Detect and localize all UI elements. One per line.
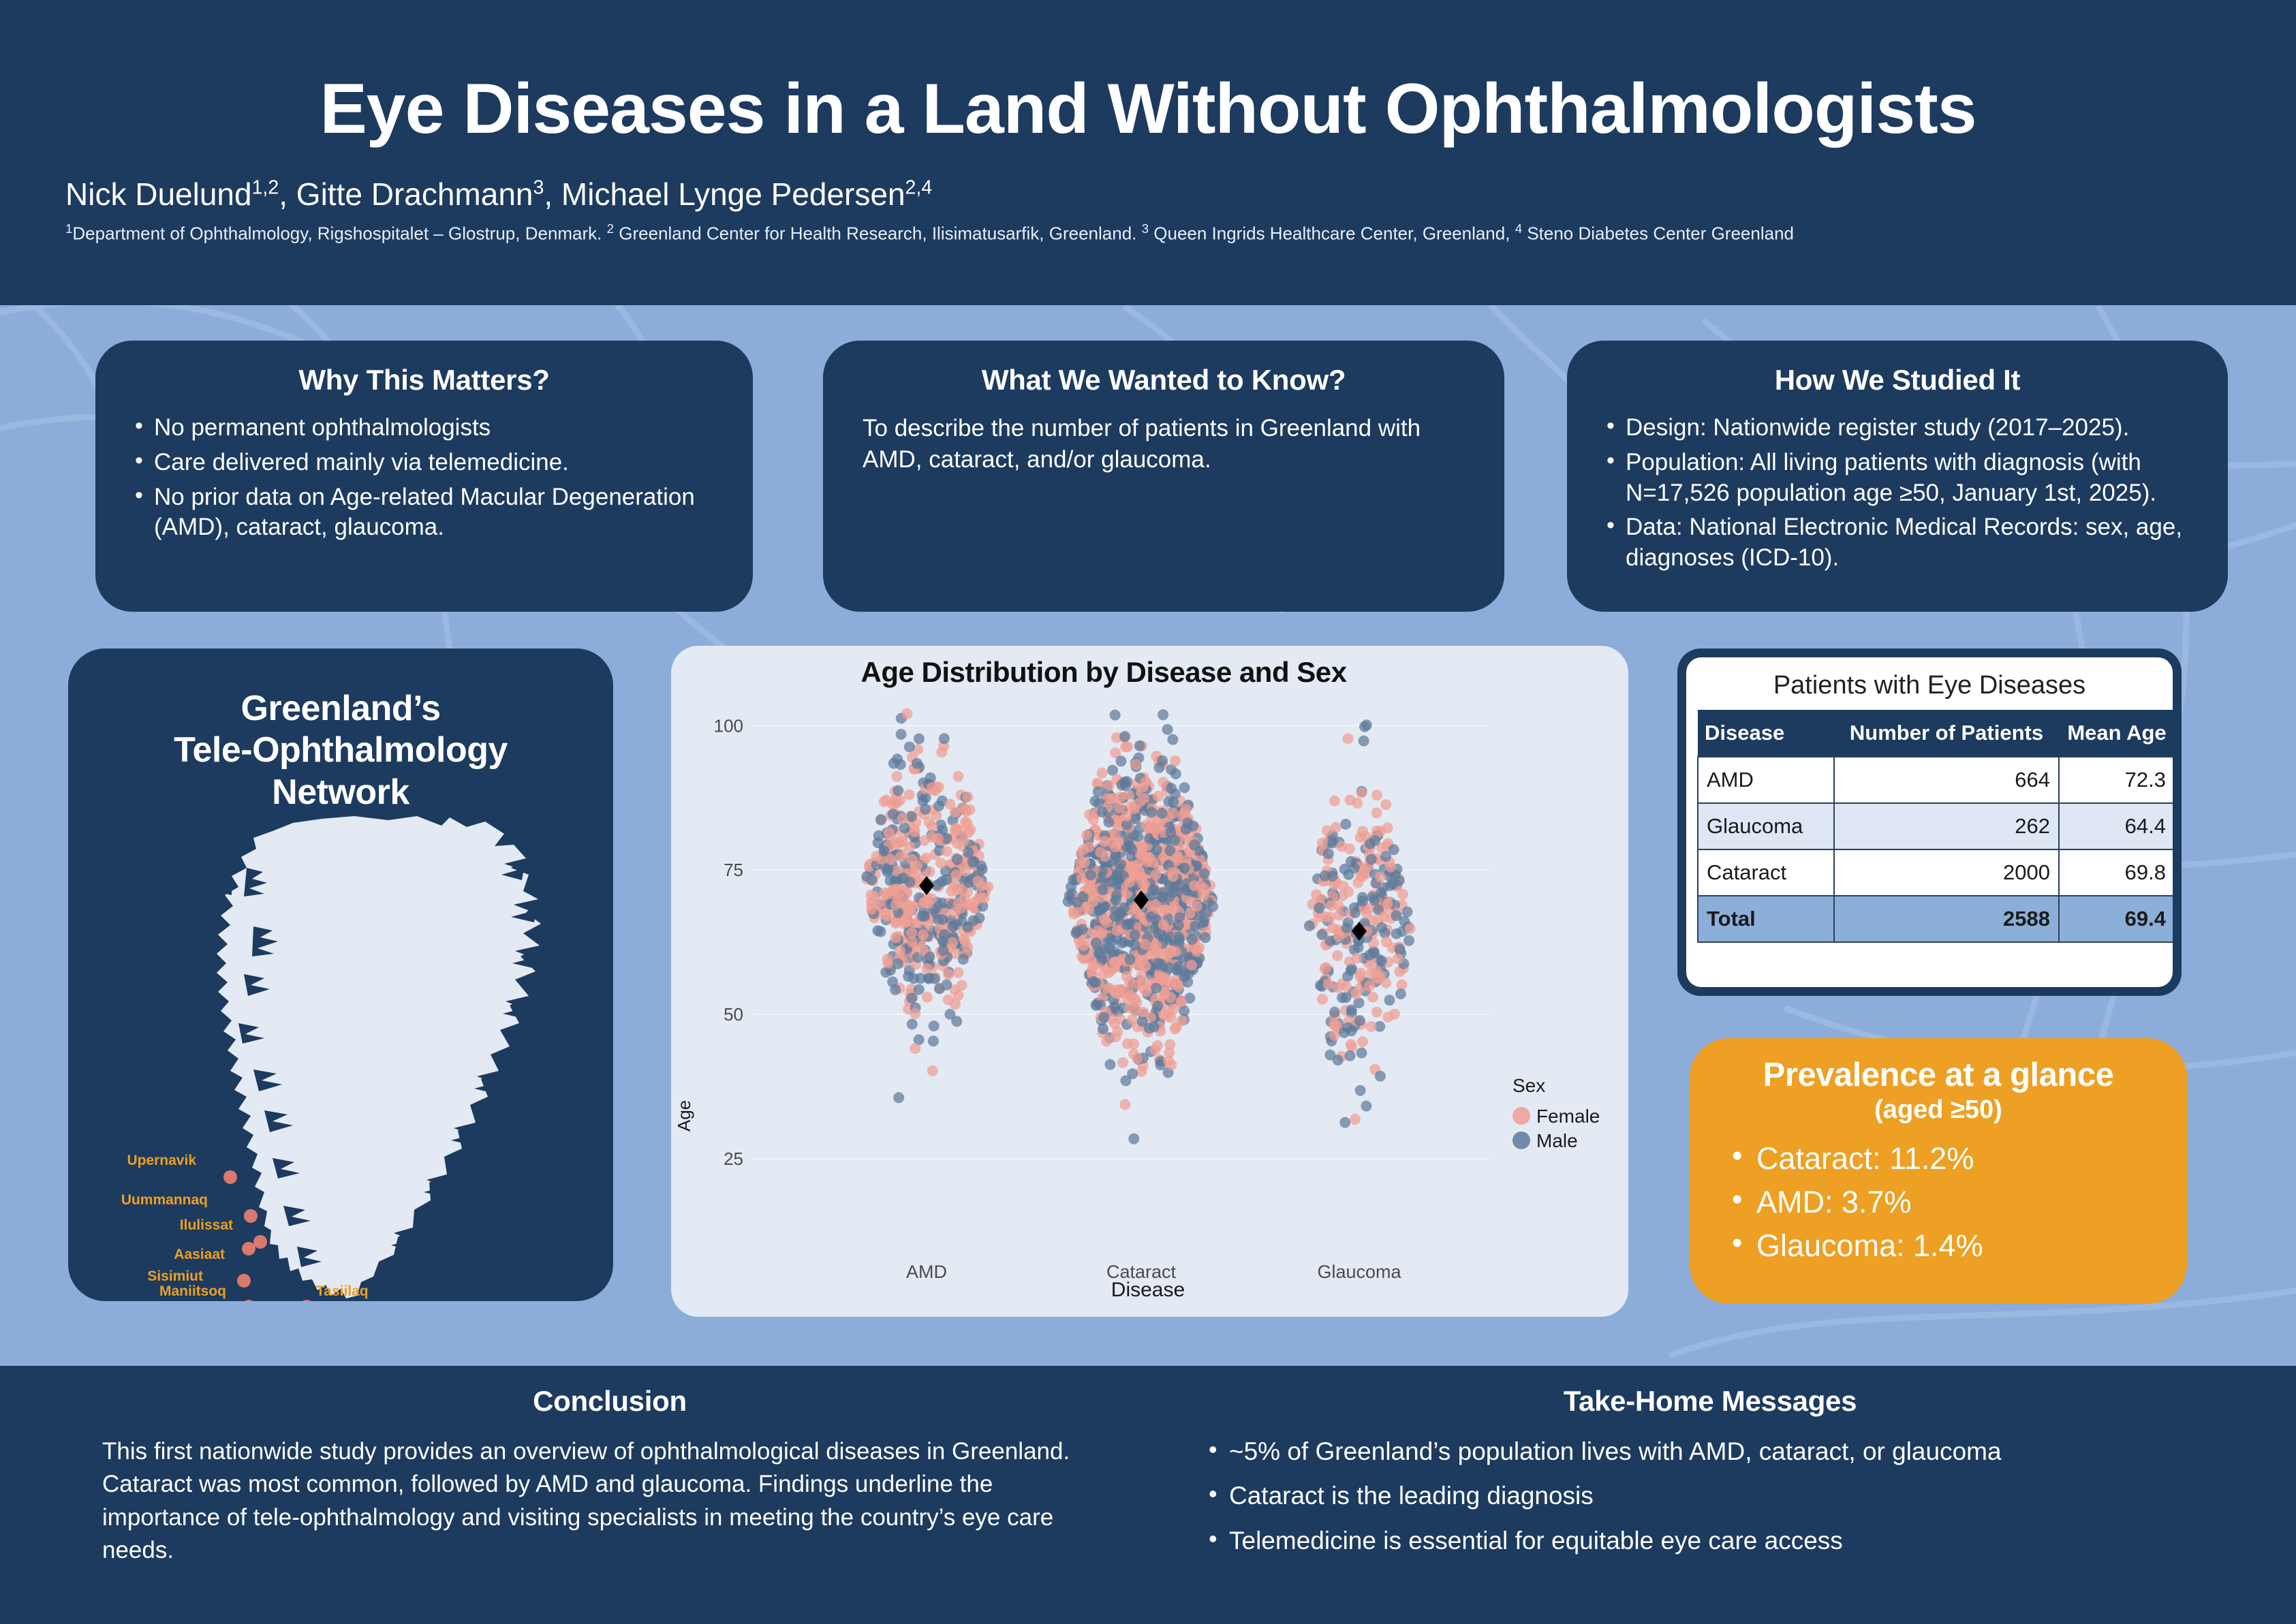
data-point bbox=[1329, 796, 1340, 807]
cell-mean-age: 72.3 bbox=[2059, 757, 2173, 803]
data-point bbox=[904, 742, 915, 753]
data-point bbox=[1120, 1076, 1131, 1087]
cell-total-label: Total bbox=[1698, 896, 1834, 942]
data-point bbox=[917, 944, 928, 955]
data-point bbox=[942, 846, 952, 857]
data-point bbox=[1198, 917, 1209, 928]
data-point bbox=[1323, 848, 1334, 859]
data-point bbox=[1352, 953, 1363, 964]
data-point bbox=[1068, 909, 1079, 920]
data-point bbox=[1140, 777, 1151, 787]
list-item: ~5% of Greenland’s population lives with… bbox=[1199, 1435, 2221, 1467]
data-point bbox=[892, 753, 903, 764]
data-point bbox=[951, 823, 962, 834]
data-point bbox=[1164, 947, 1175, 958]
xtick-label: AMD bbox=[906, 1262, 947, 1282]
data-point bbox=[1130, 930, 1141, 941]
data-point bbox=[1101, 1036, 1112, 1047]
data-point bbox=[1376, 922, 1387, 933]
data-point bbox=[1338, 881, 1349, 892]
cell-patients: 664 bbox=[1834, 757, 2059, 803]
data-point bbox=[1192, 946, 1203, 956]
data-point bbox=[875, 814, 886, 825]
data-point bbox=[922, 963, 933, 974]
data-point bbox=[1163, 1056, 1174, 1067]
data-point bbox=[943, 969, 954, 980]
data-point bbox=[1119, 731, 1130, 742]
data-point bbox=[1085, 870, 1096, 881]
legend-swatch bbox=[1512, 1107, 1530, 1125]
data-point bbox=[1346, 1005, 1357, 1016]
poster-header: Eye Diseases in a Land Without Ophthalmo… bbox=[0, 0, 2296, 305]
data-point bbox=[957, 980, 967, 991]
data-point bbox=[1359, 721, 1370, 732]
data-point bbox=[1122, 741, 1133, 752]
data-point bbox=[1327, 900, 1337, 911]
map-city-label: Ilulissat bbox=[180, 1217, 233, 1233]
xtick-label: Glaucoma bbox=[1317, 1262, 1401, 1282]
data-point bbox=[1130, 759, 1141, 770]
data-point bbox=[1332, 950, 1343, 961]
data-point bbox=[1173, 920, 1184, 931]
data-point bbox=[907, 937, 918, 948]
page-title: Eye Diseases in a Land Without Ophthalmo… bbox=[65, 0, 2231, 144]
data-point bbox=[891, 798, 902, 809]
ytick-label: 75 bbox=[724, 860, 743, 880]
ytick-label: 25 bbox=[724, 1149, 743, 1169]
data-point bbox=[1394, 875, 1405, 886]
data-point bbox=[1314, 903, 1324, 913]
data-point bbox=[1112, 1026, 1123, 1037]
data-point bbox=[1087, 896, 1098, 907]
cell-mean-age: 69.8 bbox=[2059, 849, 2173, 896]
data-point bbox=[1093, 786, 1104, 797]
data-point bbox=[1110, 710, 1121, 721]
data-point bbox=[1199, 869, 1210, 879]
data-point bbox=[1382, 822, 1393, 833]
map-city-dot bbox=[242, 1242, 255, 1255]
data-point bbox=[946, 886, 957, 896]
data-point bbox=[1317, 838, 1328, 849]
data-point bbox=[907, 1019, 918, 1030]
data-point bbox=[1369, 835, 1380, 846]
data-point bbox=[1391, 910, 1401, 921]
data-point bbox=[1121, 971, 1132, 982]
map-city-label: Sisimiut bbox=[147, 1268, 203, 1284]
data-point bbox=[1153, 791, 1164, 802]
data-point bbox=[1098, 1012, 1109, 1022]
legend-swatch bbox=[1512, 1131, 1530, 1149]
data-point bbox=[962, 922, 973, 933]
data-point bbox=[1375, 871, 1386, 882]
map-city-label: Aasiaat bbox=[174, 1247, 225, 1262]
cell-disease: AMD bbox=[1698, 757, 1834, 803]
data-point bbox=[1138, 1007, 1149, 1018]
data-point bbox=[952, 854, 963, 865]
patients-table: Disease Number of Patients Mean Age AMD … bbox=[1697, 710, 2173, 943]
data-point bbox=[1128, 1134, 1139, 1144]
data-point bbox=[1106, 937, 1117, 948]
data-point bbox=[1371, 807, 1382, 818]
data-point bbox=[1158, 919, 1169, 930]
data-point bbox=[903, 901, 914, 912]
data-point bbox=[1115, 908, 1126, 919]
data-point bbox=[1329, 1007, 1340, 1018]
data-point bbox=[947, 937, 958, 948]
data-point bbox=[1106, 837, 1117, 847]
data-point bbox=[1164, 1039, 1175, 1050]
data-point bbox=[1179, 782, 1190, 793]
data-point bbox=[873, 837, 884, 848]
data-point bbox=[1097, 928, 1108, 939]
data-point bbox=[1359, 865, 1370, 876]
map-city-label: Upernavik bbox=[127, 1153, 196, 1168]
data-point bbox=[1167, 734, 1178, 745]
data-point bbox=[920, 853, 931, 864]
data-point bbox=[1371, 1007, 1382, 1018]
greenland-map-panel: Greenland’s Tele-Ophthalmology Network bbox=[68, 649, 613, 1301]
data-point bbox=[1189, 839, 1200, 850]
data-point bbox=[1181, 804, 1192, 815]
data-point bbox=[929, 1020, 940, 1031]
map-city-dot bbox=[300, 1300, 313, 1301]
data-point bbox=[933, 800, 944, 811]
data-point bbox=[1168, 808, 1179, 819]
table-row: Cataract 2000 69.8 bbox=[1698, 849, 2173, 896]
data-point bbox=[912, 758, 922, 769]
data-point bbox=[1104, 1059, 1115, 1070]
data-point bbox=[1165, 992, 1176, 1003]
data-point bbox=[1340, 819, 1351, 830]
prevalence-card: Prevalence at a glance (aged ≥50) Catara… bbox=[1690, 1038, 2187, 1304]
data-point bbox=[1117, 937, 1128, 948]
cell-total-mean-age: 69.4 bbox=[2059, 896, 2173, 942]
data-point bbox=[1103, 817, 1114, 828]
age-distribution-chart-panel: Age Distribution by Disease and Sex 2550… bbox=[671, 646, 1628, 1317]
ytick-label: 100 bbox=[714, 715, 743, 736]
data-point bbox=[917, 911, 928, 922]
data-point bbox=[1151, 941, 1162, 952]
list-item: No prior data on Age-related Macular Deg… bbox=[125, 482, 723, 544]
data-point bbox=[977, 864, 988, 875]
data-point bbox=[969, 896, 980, 907]
data-point bbox=[910, 826, 920, 837]
data-point bbox=[1128, 804, 1139, 815]
data-point bbox=[1145, 911, 1156, 922]
conclusion-title: Conclusion bbox=[102, 1385, 1117, 1418]
data-point bbox=[1341, 992, 1352, 1003]
prevalence-subtitle: (aged ≥50) bbox=[1713, 1095, 2164, 1125]
column-header-patients: Number of Patients bbox=[1834, 710, 2059, 757]
data-point bbox=[1405, 923, 1416, 934]
data-point bbox=[1173, 961, 1184, 972]
map-city-dot bbox=[242, 1300, 255, 1301]
data-point bbox=[1375, 1071, 1386, 1082]
list-item: Cataract: 11.2% bbox=[1713, 1137, 2164, 1181]
data-point bbox=[1170, 1023, 1181, 1034]
data-point bbox=[1078, 940, 1089, 951]
chart-xlabel: Disease bbox=[1111, 1279, 1185, 1301]
data-point bbox=[1164, 892, 1175, 903]
list-item: Telemedicine is essential for equitable … bbox=[1199, 1525, 2221, 1557]
data-point bbox=[1339, 1117, 1350, 1128]
data-point bbox=[934, 983, 945, 994]
map-city-label: Uummannaq bbox=[121, 1192, 208, 1208]
data-point bbox=[1393, 954, 1403, 965]
data-point bbox=[1152, 1001, 1163, 1012]
data-point bbox=[957, 802, 968, 813]
data-point bbox=[882, 864, 893, 875]
data-point bbox=[1129, 939, 1140, 950]
data-point bbox=[1346, 1039, 1356, 1050]
card-why-list: No permanent ophthalmologists Care deliv… bbox=[125, 413, 723, 543]
data-point bbox=[1371, 790, 1382, 800]
card-what-title: What We Wanted to Know? bbox=[853, 364, 1474, 396]
data-point bbox=[1081, 830, 1092, 841]
data-point bbox=[1115, 859, 1126, 870]
data-point bbox=[1104, 780, 1115, 791]
data-point bbox=[1329, 1030, 1339, 1041]
data-point bbox=[1367, 992, 1378, 1003]
data-point bbox=[866, 874, 877, 885]
data-point bbox=[1154, 971, 1165, 982]
map-title-line1: Greenland’s bbox=[68, 688, 613, 730]
map-city-dot bbox=[237, 1274, 251, 1287]
data-point bbox=[937, 876, 948, 887]
data-point bbox=[944, 1009, 955, 1020]
card-how-title: How We Studied It bbox=[1597, 364, 2198, 396]
data-point bbox=[896, 729, 907, 740]
data-point bbox=[912, 860, 922, 871]
data-point bbox=[950, 999, 961, 1010]
data-point bbox=[1099, 902, 1110, 913]
column-header-mean-age: Mean Age bbox=[2059, 710, 2173, 757]
data-point bbox=[1151, 845, 1162, 856]
data-point bbox=[927, 1065, 938, 1076]
data-point bbox=[927, 782, 937, 793]
cell-disease: Cataract bbox=[1698, 849, 1834, 896]
data-point bbox=[1158, 709, 1168, 720]
data-point bbox=[915, 973, 926, 984]
data-point bbox=[893, 785, 903, 796]
data-point bbox=[1174, 934, 1185, 945]
data-point bbox=[1077, 924, 1088, 935]
data-point bbox=[1152, 1040, 1163, 1051]
strip-plot: 255075100 AMDCataractGlaucoma SexFemaleM… bbox=[671, 646, 1628, 1317]
card-how-we-studied-it: How We Studied It Design: Nationwide reg… bbox=[1567, 341, 2228, 612]
data-point bbox=[953, 967, 964, 978]
data-point bbox=[1320, 871, 1331, 881]
data-point bbox=[1380, 799, 1391, 810]
list-item: Care delivered mainly via telemedicine. bbox=[125, 448, 723, 478]
data-point bbox=[1134, 740, 1145, 751]
data-point bbox=[884, 828, 895, 839]
ytick-label: 50 bbox=[724, 1004, 743, 1025]
data-point bbox=[939, 733, 950, 744]
data-point bbox=[1157, 808, 1168, 819]
data-point bbox=[1157, 755, 1168, 766]
take-home-list: ~5% of Greenland’s population lives with… bbox=[1199, 1435, 2221, 1557]
data-point bbox=[1125, 954, 1136, 965]
data-point bbox=[1336, 841, 1347, 852]
data-point bbox=[890, 899, 901, 910]
data-point bbox=[1343, 733, 1354, 744]
greenland-map-icon: UpernavikUummannaqIlulissatAasiaatSisimi… bbox=[68, 804, 613, 1301]
data-point bbox=[951, 870, 962, 881]
data-point bbox=[1111, 890, 1122, 901]
card-how-list: Design: Nationwide register study (2017–… bbox=[1597, 413, 2198, 574]
poster-footer: Conclusion This first nationwide study p… bbox=[0, 1366, 2296, 1624]
data-point bbox=[1151, 869, 1162, 880]
data-point bbox=[1185, 908, 1196, 919]
data-point bbox=[1162, 724, 1173, 735]
data-point bbox=[885, 854, 896, 865]
data-point bbox=[928, 1035, 939, 1046]
data-point bbox=[918, 929, 929, 940]
prevalence-list: Cataract: 11.2% AMD: 3.7% Glaucoma: 1.4% bbox=[1713, 1137, 2164, 1268]
data-point bbox=[958, 954, 969, 965]
affiliations: 1Department of Ophthalmology, Rigshospit… bbox=[65, 221, 2231, 245]
data-point bbox=[1097, 807, 1108, 817]
data-point bbox=[1385, 862, 1396, 873]
data-point bbox=[1097, 884, 1108, 895]
legend-label: Male bbox=[1536, 1130, 1578, 1151]
data-point bbox=[1160, 905, 1170, 916]
data-point bbox=[1187, 934, 1198, 945]
data-point bbox=[906, 811, 917, 822]
map-city-dot bbox=[253, 1235, 267, 1249]
chart-points bbox=[861, 708, 1415, 1144]
data-point bbox=[1173, 981, 1183, 992]
data-point bbox=[1179, 862, 1190, 873]
data-point bbox=[1322, 825, 1333, 836]
data-point bbox=[1355, 968, 1366, 979]
data-point bbox=[1341, 981, 1352, 992]
list-item: Glaucoma: 1.4% bbox=[1713, 1224, 2164, 1268]
data-point bbox=[1176, 996, 1187, 1007]
table-caption: Patients with Eye Diseases bbox=[1697, 666, 2162, 710]
data-point bbox=[1124, 877, 1135, 888]
data-point bbox=[914, 984, 925, 995]
data-point bbox=[1339, 1027, 1350, 1038]
data-point bbox=[904, 790, 915, 800]
data-point bbox=[962, 792, 973, 802]
data-point bbox=[1369, 894, 1380, 905]
legend-title: Sex bbox=[1512, 1075, 1545, 1096]
data-point bbox=[1138, 793, 1149, 804]
data-point bbox=[1141, 819, 1151, 830]
data-point bbox=[1382, 899, 1393, 909]
data-point bbox=[1364, 950, 1375, 961]
data-point bbox=[937, 914, 948, 925]
cell-total-patients: 2588 bbox=[1834, 896, 2059, 942]
data-point bbox=[1170, 755, 1181, 766]
data-point bbox=[1402, 907, 1413, 918]
data-point bbox=[1395, 988, 1406, 999]
data-point bbox=[972, 876, 983, 887]
conclusion-text: This first nationwide study provides an … bbox=[102, 1435, 1117, 1567]
data-point bbox=[948, 921, 959, 932]
data-point bbox=[893, 958, 903, 969]
data-point bbox=[1344, 869, 1354, 880]
chart-legend: SexFemaleMale bbox=[1512, 1075, 1600, 1151]
take-home-title: Take-Home Messages bbox=[1199, 1385, 2221, 1418]
table-total-row: Total 2588 69.4 bbox=[1698, 896, 2173, 942]
data-point bbox=[1172, 852, 1183, 863]
card-why-this-matters: Why This Matters? No permanent ophthalmo… bbox=[95, 341, 753, 612]
data-point bbox=[1098, 1023, 1108, 1034]
data-point bbox=[922, 992, 933, 1003]
list-item: Cataract is the leading diagnosis bbox=[1199, 1480, 2221, 1512]
data-point bbox=[1355, 1085, 1366, 1096]
data-point bbox=[963, 847, 974, 858]
data-point bbox=[1304, 920, 1315, 931]
map-city-dot bbox=[244, 1209, 258, 1223]
data-point bbox=[959, 835, 969, 846]
data-point bbox=[1376, 956, 1387, 967]
data-point bbox=[891, 771, 902, 782]
data-point bbox=[1381, 937, 1392, 948]
data-point bbox=[1395, 943, 1406, 954]
data-point bbox=[1378, 911, 1389, 922]
data-point bbox=[910, 1043, 920, 1054]
data-point bbox=[1354, 1015, 1365, 1026]
data-point bbox=[1097, 953, 1108, 964]
data-point bbox=[1130, 994, 1141, 1005]
map-city-dot bbox=[223, 1170, 237, 1184]
data-point bbox=[914, 734, 925, 745]
data-point bbox=[897, 873, 908, 884]
data-point bbox=[1136, 1066, 1147, 1077]
data-point bbox=[895, 946, 905, 956]
table-row: AMD 664 72.3 bbox=[1698, 757, 2173, 803]
data-point bbox=[1084, 842, 1095, 853]
data-point bbox=[1088, 976, 1099, 987]
data-point bbox=[1186, 960, 1197, 971]
chart-ylabel: Age bbox=[674, 1100, 694, 1131]
data-point bbox=[1316, 929, 1327, 940]
data-point bbox=[1163, 796, 1174, 807]
data-point bbox=[1403, 935, 1414, 946]
data-point bbox=[1138, 851, 1149, 862]
data-point bbox=[1333, 931, 1344, 942]
data-point bbox=[1311, 889, 1322, 900]
legend-label: Female bbox=[1536, 1106, 1600, 1127]
data-point bbox=[880, 967, 891, 978]
data-point bbox=[899, 822, 910, 833]
map-city-label: Tasiilaq bbox=[316, 1283, 369, 1299]
data-point bbox=[1097, 768, 1108, 779]
data-point bbox=[959, 893, 970, 904]
list-item: Design: Nationwide register study (2017–… bbox=[1597, 413, 2198, 443]
data-point bbox=[1181, 824, 1192, 834]
data-point bbox=[1119, 1099, 1130, 1110]
data-point bbox=[1110, 957, 1121, 968]
data-point bbox=[1350, 1114, 1361, 1125]
data-point bbox=[1329, 1019, 1340, 1030]
data-point bbox=[1103, 967, 1114, 978]
data-point bbox=[1169, 901, 1180, 912]
data-point bbox=[1111, 925, 1122, 936]
data-point bbox=[1139, 939, 1150, 950]
data-point bbox=[1380, 978, 1391, 988]
data-point bbox=[1107, 765, 1118, 776]
data-point bbox=[927, 821, 937, 832]
conclusion-section: Conclusion This first nationwide study p… bbox=[102, 1385, 1117, 1567]
data-point bbox=[1117, 780, 1128, 791]
data-point bbox=[1356, 787, 1367, 798]
data-point bbox=[1317, 994, 1328, 1005]
